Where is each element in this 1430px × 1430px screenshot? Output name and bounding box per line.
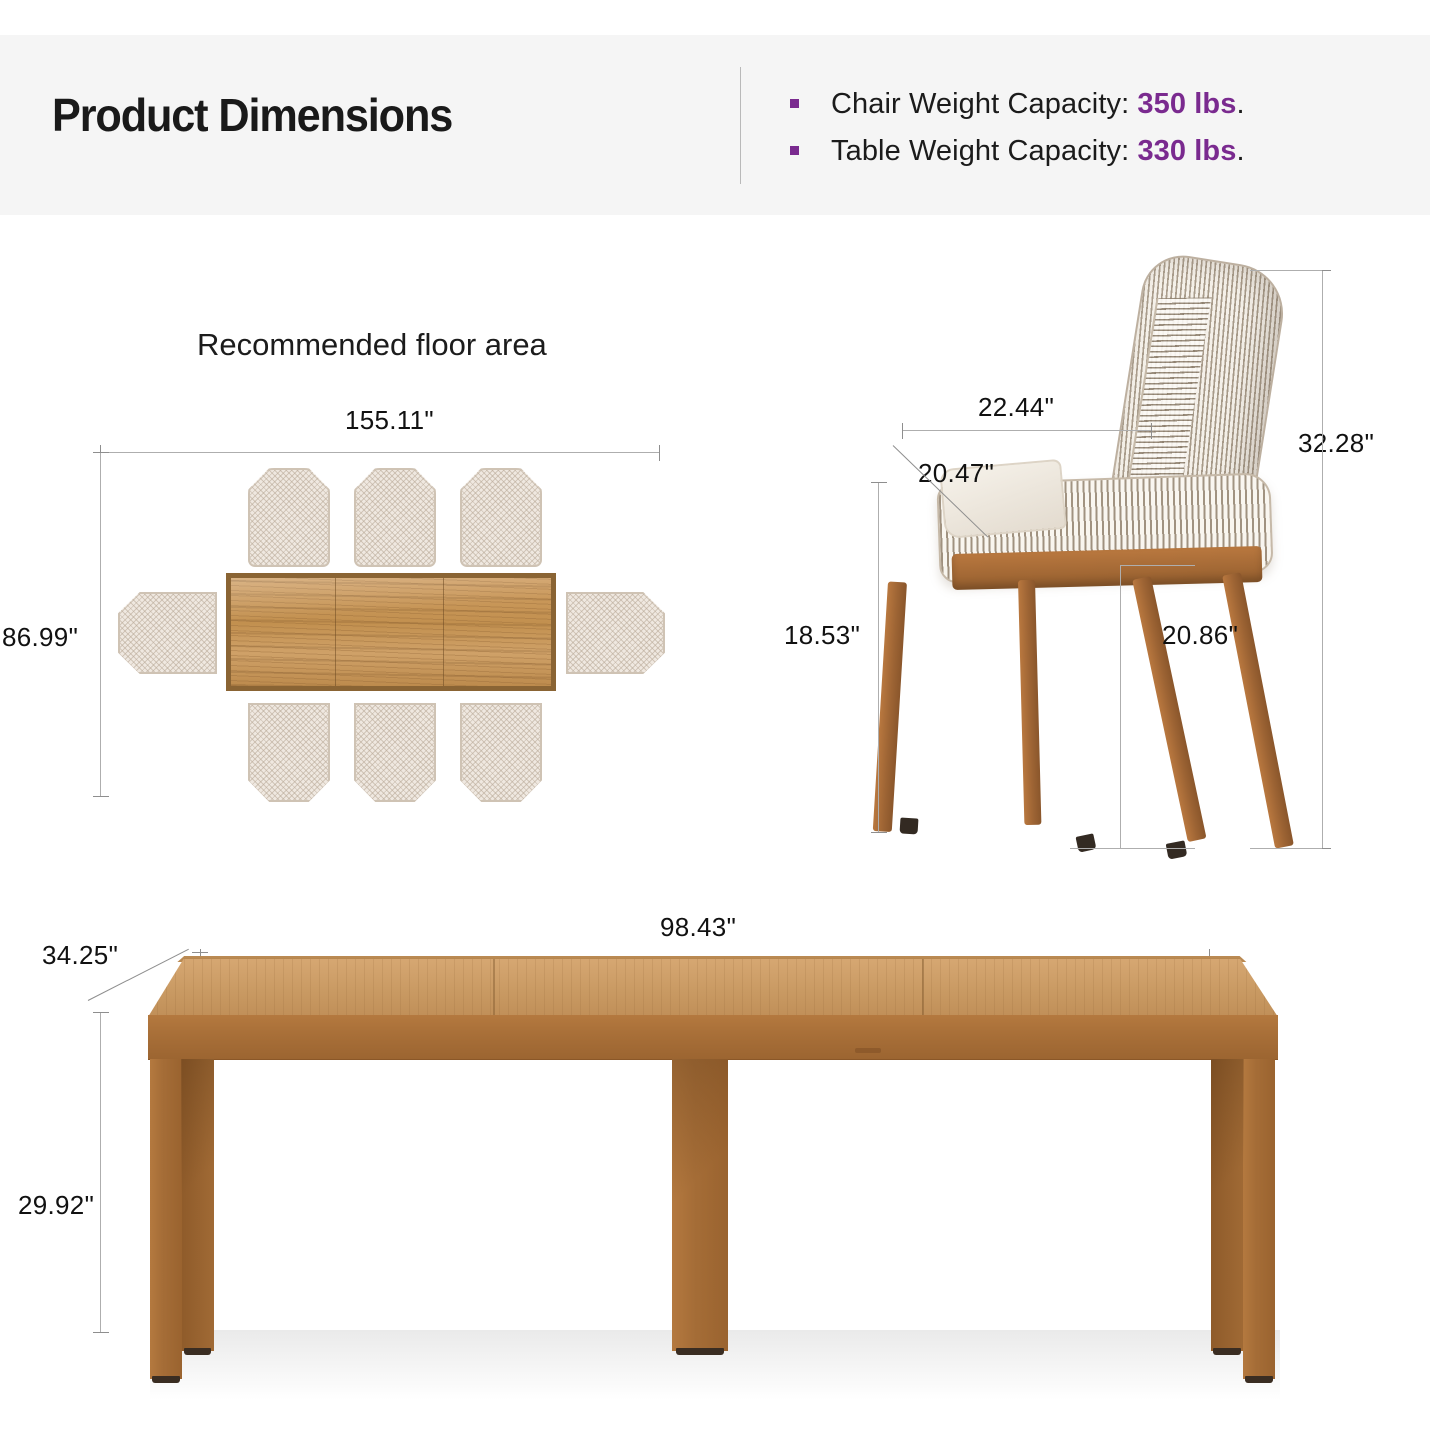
- floorplan-height-label: 86.99": [2, 622, 78, 653]
- chair-leg-front-right: [1018, 580, 1041, 825]
- chair-total-height-label: 32.28": [1298, 428, 1374, 459]
- table-foot-left-side: [184, 1348, 211, 1355]
- floorplan-height-line: [100, 452, 101, 797]
- table-height-tick-bottom: [93, 1332, 109, 1333]
- table-top-seam-2: [922, 959, 924, 1017]
- plan-chair-bottom-2: [354, 703, 436, 802]
- table-leg-middle-shading: [672, 1059, 728, 1239]
- header-divider: [740, 67, 741, 184]
- page-title: Product Dimensions: [52, 88, 452, 142]
- table-foot-right-side: [1213, 1348, 1241, 1355]
- plan-chair-bottom-3: [460, 703, 542, 802]
- chair-foot-front-left: [900, 817, 919, 834]
- table-capacity-text: Table Weight Capacity: 330 lbs.: [831, 135, 1245, 168]
- floor-plan-caption: Recommended floor area: [197, 327, 547, 363]
- table-foot-middle: [676, 1348, 724, 1355]
- chair-seat-height-line: [1120, 565, 1121, 848]
- chair-leg-height-tick-top: [871, 482, 887, 483]
- chair-capacity-suffix: .: [1236, 88, 1244, 120]
- table-leg-right-shading: [1211, 1059, 1244, 1249]
- floorplan-height-tick-bottom: [93, 796, 109, 797]
- table-leg-left-shading: [181, 1059, 214, 1249]
- plan-chair-bottom-1: [248, 703, 330, 802]
- table-height-label: 29.92": [18, 1190, 94, 1221]
- capacity-list: Chair Weight Capacity: 350 lbs. Table We…: [790, 88, 1390, 182]
- chair-backrest-weave: [1127, 297, 1212, 486]
- table-height-line: [100, 1012, 101, 1332]
- chair-total-height-leader-bottom: [1250, 848, 1322, 849]
- chair-leg-height-tick-bottom: [871, 832, 887, 833]
- chair-top-width-label: 22.44": [978, 392, 1054, 423]
- capacity-row-table: Table Weight Capacity: 330 lbs.: [790, 135, 1390, 168]
- chair-seat-depth-label: 20.47": [918, 458, 994, 489]
- bullet-square-icon: [790, 146, 799, 155]
- table-elevation-diagram: 98.43" 34.25" 29.92": [0, 890, 1430, 1430]
- plan-chair-right-1: [566, 592, 665, 674]
- chair-total-height-leader-top: [1250, 270, 1322, 271]
- bullet-square-icon: [790, 99, 799, 108]
- table-leg-right-front-panel: [1243, 1059, 1275, 1379]
- chair-seat-height-label: 20.86": [1162, 620, 1238, 651]
- table-leg-left-front-panel: [150, 1059, 182, 1379]
- chair-elevation-diagram: 22.44" 20.47" 18.53" 32.28" 20.86": [830, 250, 1430, 870]
- chair-foot-rear-right: [1166, 840, 1188, 859]
- plan-table-seam-2: [443, 578, 444, 686]
- plan-chair-top-1: [248, 468, 330, 567]
- plan-chair-top-3: [460, 468, 542, 567]
- table-apron-joint: [855, 1048, 881, 1053]
- table-foot-right-front: [1245, 1376, 1273, 1383]
- chair-leg-height-line: [878, 482, 879, 832]
- plan-table-seam-1: [335, 578, 336, 686]
- floorplan-width-tick-right: [659, 445, 660, 461]
- table-depth-tick-upper: [192, 952, 208, 953]
- capacity-row-chair: Chair Weight Capacity: 350 lbs.: [790, 88, 1390, 121]
- chair-leg-rear-right: [1222, 572, 1294, 849]
- chair-seat-height-leader-top: [1120, 565, 1195, 566]
- chair-foot-rear-left: [1076, 833, 1097, 852]
- chair-seat-height-leader-bottom: [1070, 848, 1195, 849]
- chair-top-width-tick-left: [902, 423, 903, 439]
- table-top-surface: [148, 958, 1278, 1017]
- chair-seat-frame-rail: [952, 546, 1263, 590]
- floor-plan-diagram: Recommended floor area 155.11" 86.99": [0, 300, 700, 840]
- table-length-label: 98.43": [660, 912, 736, 943]
- table-apron: [148, 1015, 1278, 1060]
- plan-chair-top-2: [354, 468, 436, 567]
- table-capacity-suffix: .: [1236, 135, 1244, 167]
- chair-capacity-label: Chair Weight Capacity:: [831, 88, 1129, 120]
- floorplan-height-tick-top: [93, 452, 109, 453]
- table-capacity-value: 330 lbs: [1137, 135, 1236, 167]
- chair-leg-rear-left: [1132, 576, 1206, 842]
- table-top-seam-1: [493, 959, 495, 1017]
- floorplan-width-line: [100, 452, 660, 453]
- chair-leg-height-label: 18.53": [784, 620, 860, 651]
- chair-capacity-text: Chair Weight Capacity: 350 lbs.: [831, 88, 1245, 121]
- table-foot-left-front: [152, 1376, 180, 1383]
- plan-table-top: [226, 573, 556, 691]
- chair-top-width-tick-right: [1151, 423, 1152, 439]
- chair-total-height-line: [1322, 270, 1323, 848]
- table-depth-label: 34.25": [42, 940, 118, 971]
- plan-chair-left-1: [118, 592, 217, 674]
- table-capacity-label: Table Weight Capacity:: [831, 135, 1129, 167]
- floorplan-width-label: 155.11": [345, 405, 434, 436]
- table-height-tick-top: [93, 1012, 109, 1013]
- chair-capacity-value: 350 lbs: [1137, 88, 1236, 120]
- chair-top-width-line: [902, 430, 1152, 431]
